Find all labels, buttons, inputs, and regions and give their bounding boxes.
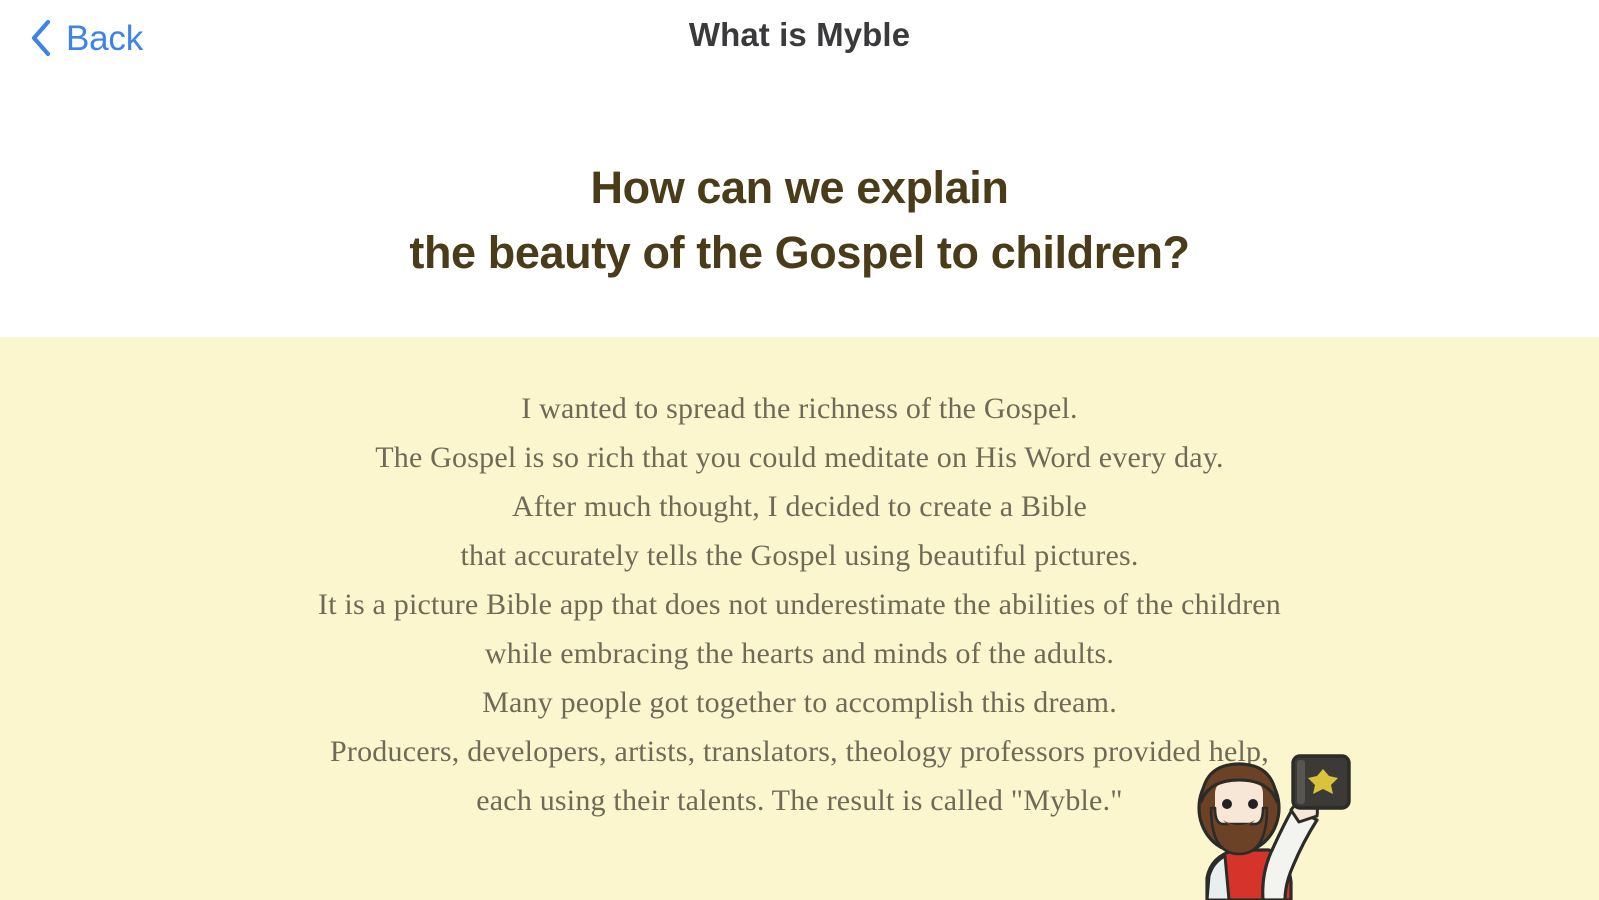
app-screen: Back What is Myble How can we explain th… <box>0 0 1599 900</box>
headline-line-2: the beauty of the Gospel to children? <box>409 221 1189 286</box>
panel-top-gradient <box>0 337 1599 339</box>
story-line: After much thought, I decided to create … <box>0 482 1599 531</box>
story-panel: I wanted to spread the richness of the G… <box>0 337 1599 900</box>
story-line: I wanted to spread the richness of the G… <box>0 384 1599 433</box>
page-title: What is Myble <box>0 14 1599 57</box>
story-line: Producers, developers, artists, translat… <box>0 727 1599 776</box>
story-line: that accurately tells the Gospel using b… <box>0 531 1599 580</box>
story-line: each using their talents. The result is … <box>0 776 1599 825</box>
story-line: The Gospel is so rich that you could med… <box>0 433 1599 482</box>
hero-section: How can we explain the beauty of the Gos… <box>0 78 1599 337</box>
story-line: It is a picture Bible app that does not … <box>0 580 1599 629</box>
headline-line-1: How can we explain <box>591 156 1009 221</box>
navigation-bar: Back What is Myble <box>0 0 1599 78</box>
story-line: while embracing the hearts and minds of … <box>0 629 1599 678</box>
story-text-block: I wanted to spread the richness of the G… <box>0 384 1599 825</box>
story-line: Many people got together to accomplish t… <box>0 678 1599 727</box>
